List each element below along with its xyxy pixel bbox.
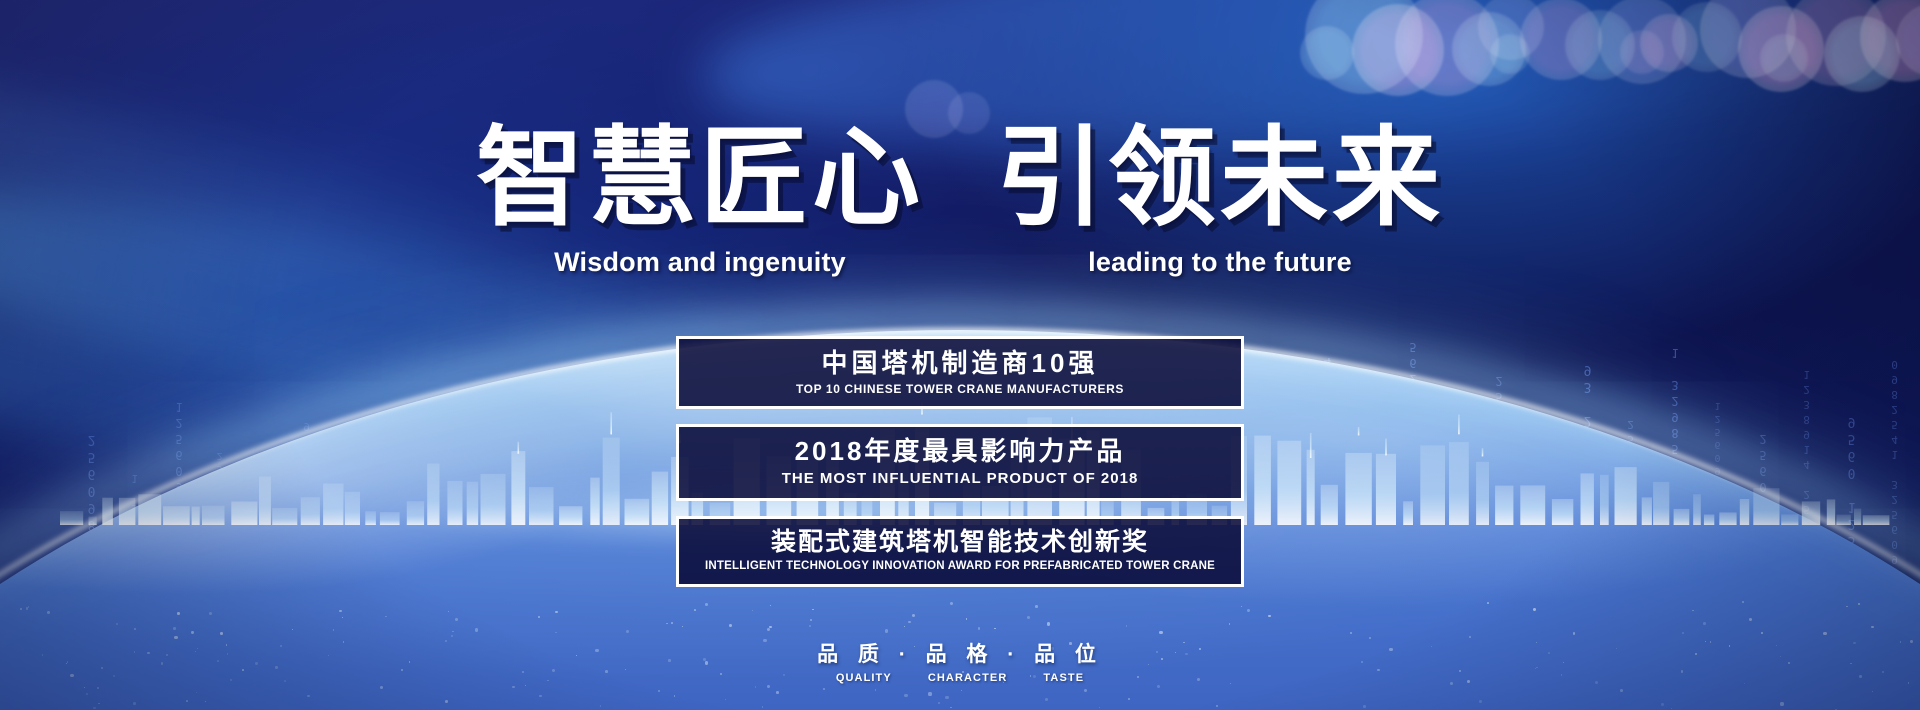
award-badge-list: 中国塔机制造商10强 TOP 10 CHINESE TOWER CRANE MA… xyxy=(676,336,1244,587)
headline-left-chinese: 智慧匠心 xyxy=(476,118,924,239)
headline-row: 智慧匠心 Wisdom and ingenuity 引领未来 leading t… xyxy=(0,118,1920,278)
bokeh-light xyxy=(1786,0,1886,86)
bokeh-light xyxy=(1565,10,1635,80)
skyline-building xyxy=(60,511,83,525)
bokeh-light xyxy=(1640,14,1698,72)
bokeh-light xyxy=(1700,0,1796,78)
award-badge-english: TOP 10 CHINESE TOWER CRANE MANUFACTURERS xyxy=(689,382,1231,396)
skyline-building xyxy=(1863,515,1890,525)
tagline-chinese: 品 质 · 品 格 · 品 位 xyxy=(817,638,1103,668)
bokeh-light xyxy=(1305,0,1423,94)
bokeh-light xyxy=(1300,26,1354,80)
headline-left: 智慧匠心 Wisdom and ingenuity xyxy=(476,118,924,278)
award-badge-english: INTELLIGENT TECHNOLOGY INNOVATION AWARD … xyxy=(689,560,1231,574)
bokeh-light xyxy=(1760,34,1808,82)
bokeh-light xyxy=(1672,2,1742,72)
bokeh-light xyxy=(1860,0,1920,82)
bokeh-light xyxy=(1452,12,1526,86)
bokeh-light xyxy=(1598,0,1686,84)
award-badge: 2018年度最具影响力产品 THE MOST INFLUENTIAL PRODU… xyxy=(676,424,1244,501)
headline-left-english: Wisdom and ingenuity xyxy=(554,247,846,278)
bokeh-light xyxy=(1896,4,1920,76)
headline-right-english: leading to the future xyxy=(1088,247,1352,278)
bokeh-light xyxy=(1352,4,1444,96)
bokeh-light xyxy=(1520,0,1602,80)
skyline-building xyxy=(1854,509,1861,525)
award-badge-chinese: 2018年度最具影响力产品 xyxy=(689,436,1231,467)
skyline-building xyxy=(1836,515,1850,525)
bokeh-light xyxy=(1620,30,1664,74)
bokeh-light xyxy=(1395,0,1499,96)
award-badge-chinese: 中国塔机制造商10强 xyxy=(689,348,1231,379)
tagline-english-word: CHARACTER xyxy=(928,672,1008,684)
bottom-tagline: 品 质 · 品 格 · 品 位 QUALITYCHARACTERTASTE xyxy=(817,638,1103,684)
bokeh-light xyxy=(1490,34,1530,74)
headline-right-chinese: 引领未来 xyxy=(996,118,1444,239)
tagline-english-word: QUALITY xyxy=(836,672,892,684)
tagline-english-word: TASTE xyxy=(1043,672,1084,684)
hero-banner: 21425906 189065206921458923 13265148 290… xyxy=(0,0,1920,710)
award-badge: 装配式建筑塔机智能技术创新奖 INTELLIGENT TECHNOLOGY IN… xyxy=(676,516,1244,587)
award-badge-chinese: 装配式建筑塔机智能技术创新奖 xyxy=(689,528,1231,558)
bokeh-light xyxy=(1478,0,1544,60)
headline-right: 引领未来 leading to the future xyxy=(996,118,1444,278)
bokeh-light xyxy=(1824,16,1900,92)
digit-stream: 906523 1452890 xyxy=(1888,356,1901,566)
award-badge-english: THE MOST INFLUENTIAL PRODUCT OF 2018 xyxy=(689,470,1231,488)
headline-block: 智慧匠心 Wisdom and ingenuity 引领未来 leading t… xyxy=(0,118,1920,278)
bokeh-light xyxy=(1738,6,1824,92)
award-badge: 中国塔机制造商10强 TOP 10 CHINESE TOWER CRANE MA… xyxy=(676,336,1244,409)
tagline-english-row: QUALITYCHARACTERTASTE xyxy=(817,672,1103,684)
